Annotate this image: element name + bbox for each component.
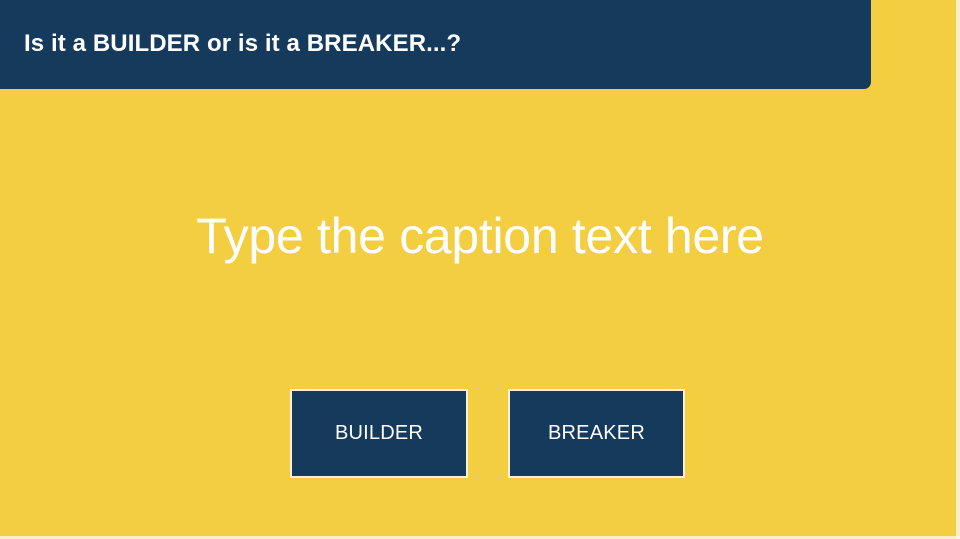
caption-text[interactable]: Type the caption text here: [196, 210, 764, 263]
breaker-button[interactable]: BREAKER: [508, 389, 685, 478]
slide-right-edge: [956, 0, 960, 539]
slide-title: Is it a BUILDER or is it a BREAKER...?: [0, 30, 461, 60]
title-banner: Is it a BUILDER or is it a BREAKER...?: [0, 0, 871, 89]
caption-placeholder[interactable]: Type the caption text here: [60, 196, 900, 276]
choice-button-row: BUILDER BREAKER: [290, 389, 685, 478]
slide-canvas: Is it a BUILDER or is it a BREAKER...? T…: [0, 0, 960, 539]
breaker-button-label: BREAKER: [548, 422, 645, 445]
builder-button-label: BUILDER: [335, 422, 423, 445]
builder-button[interactable]: BUILDER: [290, 389, 468, 478]
